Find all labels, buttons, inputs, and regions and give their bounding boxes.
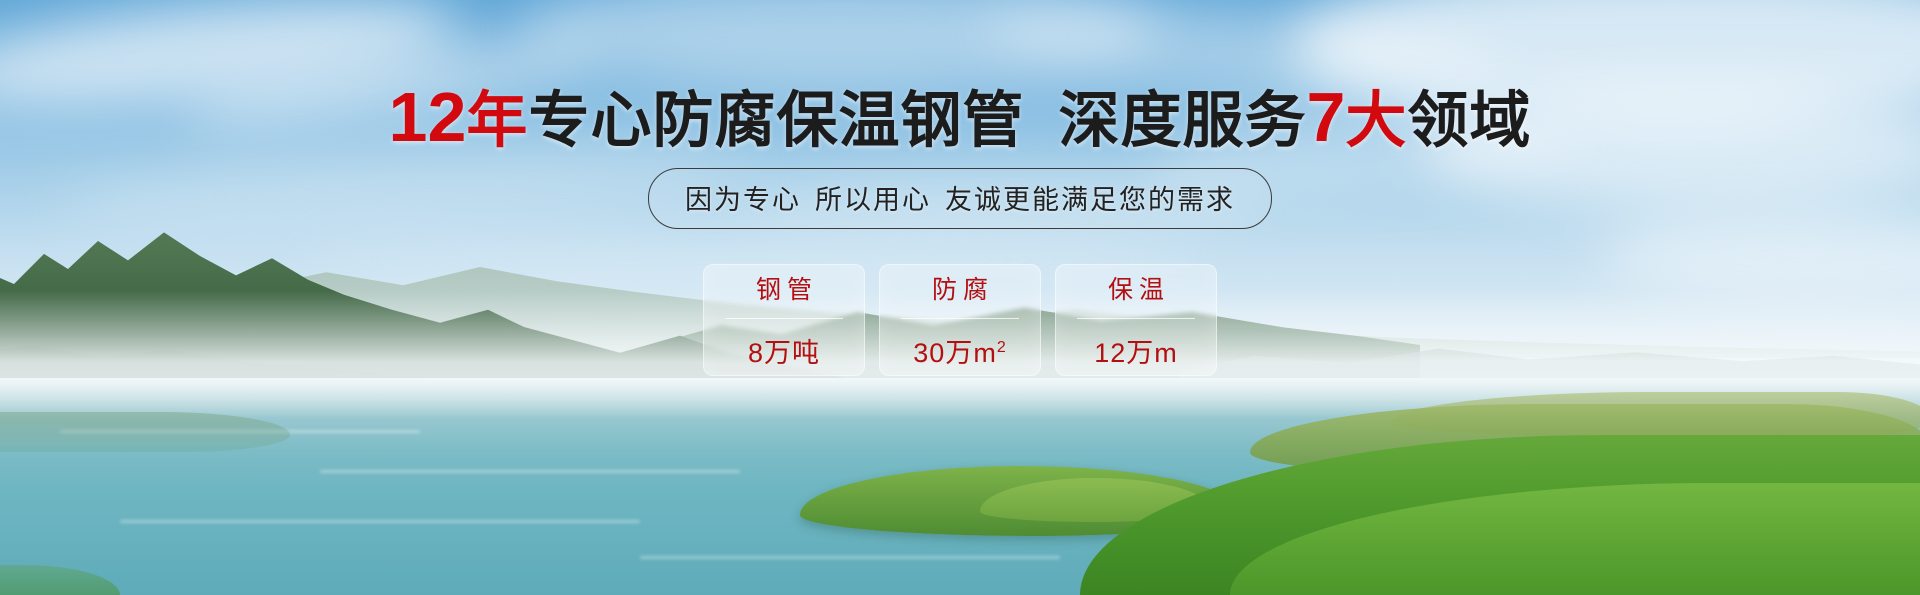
stat-card-value: 8万吨 xyxy=(748,319,820,370)
subtitle-segment-2: 所以用心 xyxy=(815,185,931,215)
stat-card-value: 30万m2 xyxy=(913,319,1006,370)
headline-fields-unit: 大 xyxy=(1345,86,1407,154)
stat-card-anticorrosion: 防腐 30万m2 xyxy=(879,264,1041,376)
stat-card-value-superscript: 2 xyxy=(997,339,1007,356)
stat-card-title: 防腐 xyxy=(901,270,1019,319)
headline-fields-number: 7 xyxy=(1306,78,1345,156)
subtitle-segment-3: 友诚更能满足您的需求 xyxy=(945,185,1235,215)
stat-card-value-text: 30万m xyxy=(913,338,997,368)
headline-service-text: 深度服务 xyxy=(1058,86,1306,154)
banner-content: 12年专心防腐保温钢管深度服务7大领域 因为专心所以用心友诚更能满足您的需求 钢… xyxy=(0,0,1920,595)
banner-headline: 12年专心防腐保温钢管深度服务7大领域 xyxy=(0,82,1920,152)
headline-fields-text: 领域 xyxy=(1407,86,1531,154)
stat-card-steel-pipe: 钢管 8万吨 xyxy=(703,264,865,376)
headline-years-unit: 年 xyxy=(466,86,528,154)
subtitle-segment-1: 因为专心 xyxy=(685,185,801,215)
stat-card-value-text: 8万吨 xyxy=(748,338,820,368)
stat-card-insulation: 保温 12万m xyxy=(1055,264,1217,376)
stat-card-value-text: 12万m xyxy=(1094,338,1178,368)
stat-card-value: 12万m xyxy=(1094,319,1178,370)
headline-years-number: 12 xyxy=(389,78,467,156)
stat-card-title: 保温 xyxy=(1077,270,1195,319)
hero-banner: 12年专心防腐保温钢管深度服务7大领域 因为专心所以用心友诚更能满足您的需求 钢… xyxy=(0,0,1920,595)
headline-main-text: 专心防腐保温钢管 xyxy=(528,86,1024,154)
stat-card-title: 钢管 xyxy=(725,270,843,319)
stat-card-list: 钢管 8万吨 防腐 30万m2 保温 12万m xyxy=(703,264,1217,376)
subtitle-pill: 因为专心所以用心友诚更能满足您的需求 xyxy=(648,168,1272,229)
